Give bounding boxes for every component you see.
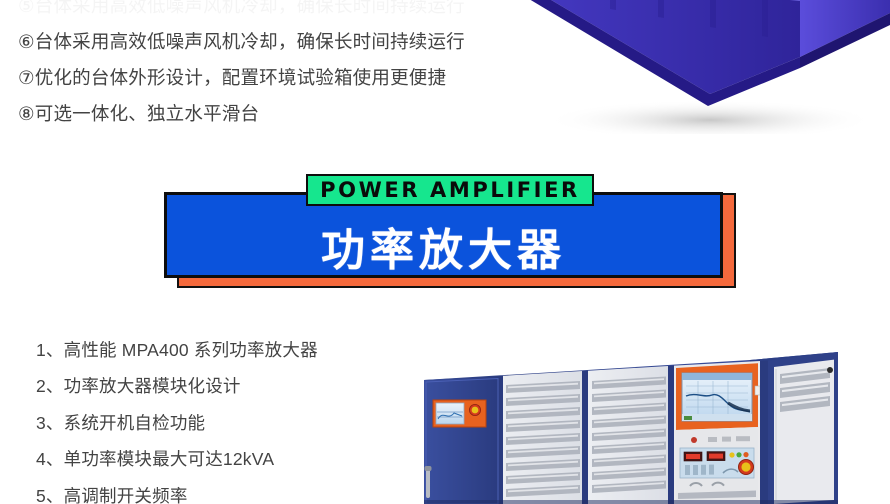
spec-item: 4、单功率模块最大可达12kVA <box>36 441 416 477</box>
banner-title-en: POWER AMPLIFIER <box>306 174 594 206</box>
banner-title-cn: 功率放大器 <box>167 225 720 277</box>
feature-item: ⑦优化的台体外形设计，配置环境试验箱使用更便捷 <box>18 60 518 96</box>
feature-item: ⑧可选一体化、独立水平滑台 <box>18 96 518 132</box>
spec-item: 1、高性能 MPA400 系列功率放大器 <box>36 332 416 368</box>
feature-list: ⑤台体采用高效低噪声风机冷却，确保长时间持续运行 ⑥台体采用高效低噪声风机冷却，… <box>18 0 518 132</box>
section-banner: 功率放大器 POWER AMPLIFIER <box>164 172 738 292</box>
spec-item: 5、高调制开关频率 <box>36 478 416 504</box>
feature-item: ⑤台体采用高效低噪声风机冷却，确保长时间持续运行 <box>18 0 518 24</box>
feature-item: ⑥台体采用高效低噪声风机冷却，确保长时间持续运行 <box>18 24 518 60</box>
amplifier-cabinet-photo <box>410 340 890 504</box>
product-detail-page: ⑤台体采用高效低噪声风机冷却，确保长时间持续运行 ⑥台体采用高效低噪声风机冷却，… <box>0 0 890 504</box>
spec-list: 1、高性能 MPA400 系列功率放大器 2、功率放大器模块化设计 3、系统开机… <box>36 332 416 504</box>
spec-item: 3、系统开机自检功能 <box>36 405 416 441</box>
spec-item: 2、功率放大器模块化设计 <box>36 368 416 404</box>
shaker-base-photo <box>500 0 890 134</box>
